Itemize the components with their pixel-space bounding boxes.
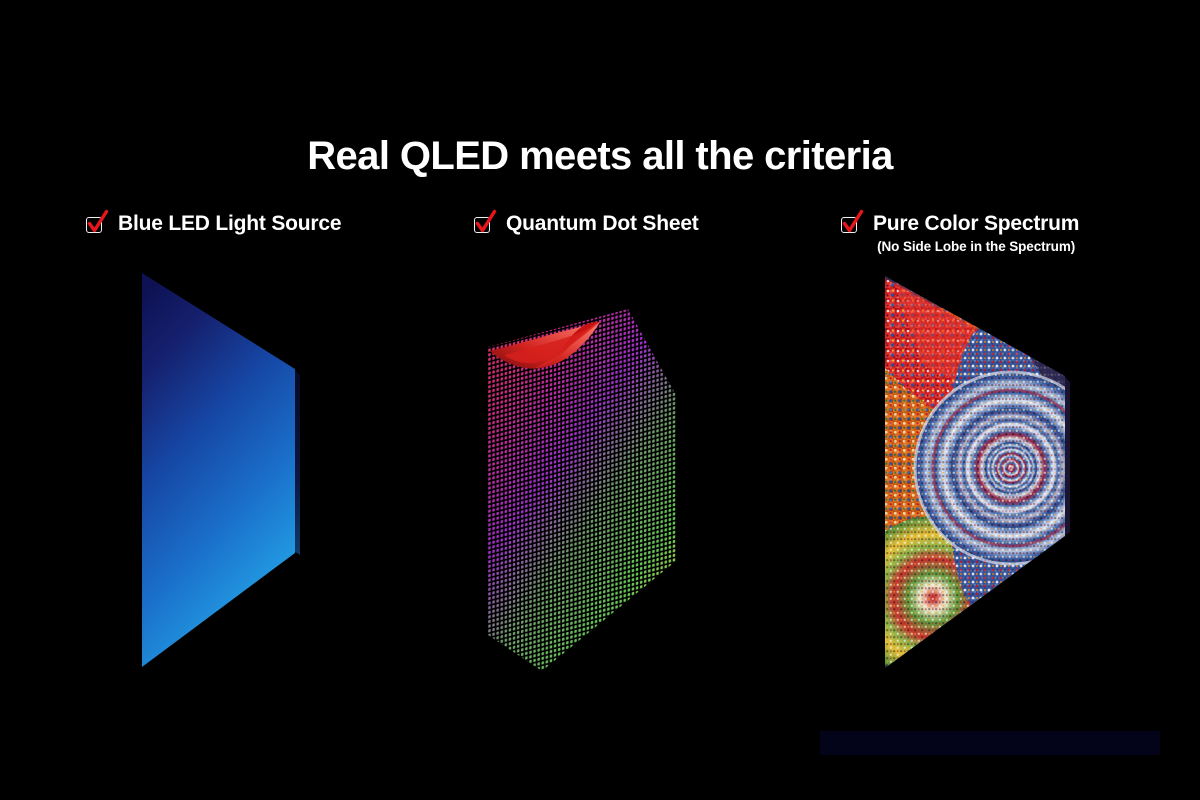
criterion-label: Pure Color Spectrum <box>873 211 1079 236</box>
criterion-pure-color-spectrum: Pure Color Spectrum (No Side Lobe in the… <box>841 210 1079 256</box>
criterion-blue-led-light-source: Blue LED Light Source <box>86 210 341 237</box>
slide-canvas: Real QLED meets all the criteria Blue LE… <box>0 0 1200 800</box>
page-title: Real QLED meets all the criteria <box>0 133 1200 179</box>
quantum-dot-panel <box>480 305 690 680</box>
checkbox-checked-icon <box>841 211 863 237</box>
checkbox-checked-icon <box>86 211 108 237</box>
criterion-label: Quantum Dot Sheet <box>506 211 699 236</box>
criterion-sublabel: (No Side Lobe in the Spectrum) <box>873 238 1079 256</box>
pure-color-spectrum-panel <box>875 268 1075 678</box>
criterion-text-block: Quantum Dot Sheet <box>506 210 699 236</box>
criterion-quantum-dot-sheet: Quantum Dot Sheet <box>474 210 699 237</box>
checkbox-checked-icon <box>474 211 496 237</box>
criterion-text-block: Pure Color Spectrum (No Side Lobe in the… <box>873 210 1079 256</box>
footer-band <box>820 731 1160 755</box>
blue-led-panel <box>130 265 320 680</box>
criterion-label: Blue LED Light Source <box>118 211 341 236</box>
criterion-text-block: Blue LED Light Source <box>118 210 341 236</box>
